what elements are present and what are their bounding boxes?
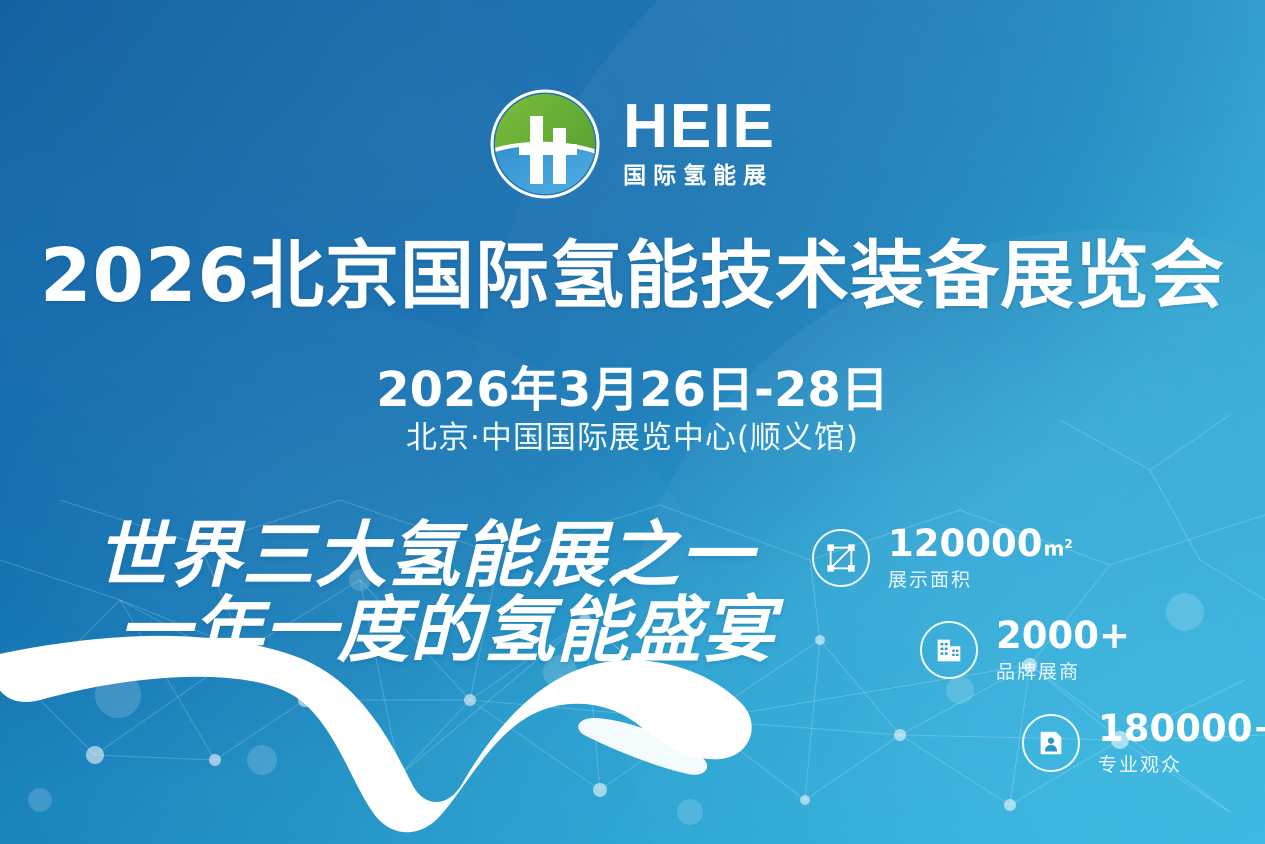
event-venue: 北京·中国国际展览中心(顺义馆) [0, 412, 1265, 457]
stat-value: 2000+ [996, 617, 1131, 654]
visitor-badge-icon [1022, 714, 1080, 772]
brand-wordmark-text: HEIE [623, 98, 776, 157]
event-date: 2026年3月26日-28日 [0, 350, 1265, 420]
stat-number: 120000 [888, 525, 1042, 562]
stat-number: 180000+ [1098, 710, 1265, 747]
stat-brand-exhibitors: 2000+ 品牌展商 [920, 617, 1131, 682]
stat-text: 2000+ 品牌展商 [996, 617, 1131, 682]
stat-professional-visitors: 180000+ 专业观众 [1022, 710, 1265, 775]
stat-text: 120000 m2 展示面积 [888, 525, 1073, 590]
stat-exhibition-area: 120000 m2 展示面积 [812, 525, 1073, 590]
stat-label: 专业观众 [1098, 756, 1265, 775]
stat-label: 展示面积 [888, 571, 1073, 590]
stat-text: 180000+ 专业观众 [1098, 710, 1265, 775]
area-measure-icon [812, 529, 870, 587]
slogan-line-1: 世界三大氢能展之一 [96, 518, 776, 593]
stat-number: 2000+ [996, 617, 1130, 654]
stat-value: 180000+ [1098, 710, 1265, 747]
stat-label: 品牌展商 [996, 663, 1131, 682]
slogan-block: 世界三大氢能展之一 一年一度的氢能盛宴 [96, 518, 776, 668]
brand-wordmark: HEIE 国际氢能展 [623, 98, 776, 191]
brand-logo-block: HEIE 国际氢能展 [0, 88, 1265, 200]
page-title: 2026北京国际氢能技术装备展览会 [0, 238, 1265, 316]
building-icon [920, 621, 978, 679]
stat-value: 120000 m2 [888, 525, 1073, 562]
slogan-line-2: 一年一度的氢能盛宴 [118, 593, 776, 668]
brand-wordmark-subtitle: 国际氢能展 [623, 162, 776, 191]
heie-circle-h-logo-icon [489, 88, 601, 200]
stat-unit: m2 [1043, 538, 1072, 559]
hydrogen-expo-poster: HEIE 国际氢能展 2026北京国际氢能技术装备展览会 2026年3月26日-… [0, 0, 1265, 844]
